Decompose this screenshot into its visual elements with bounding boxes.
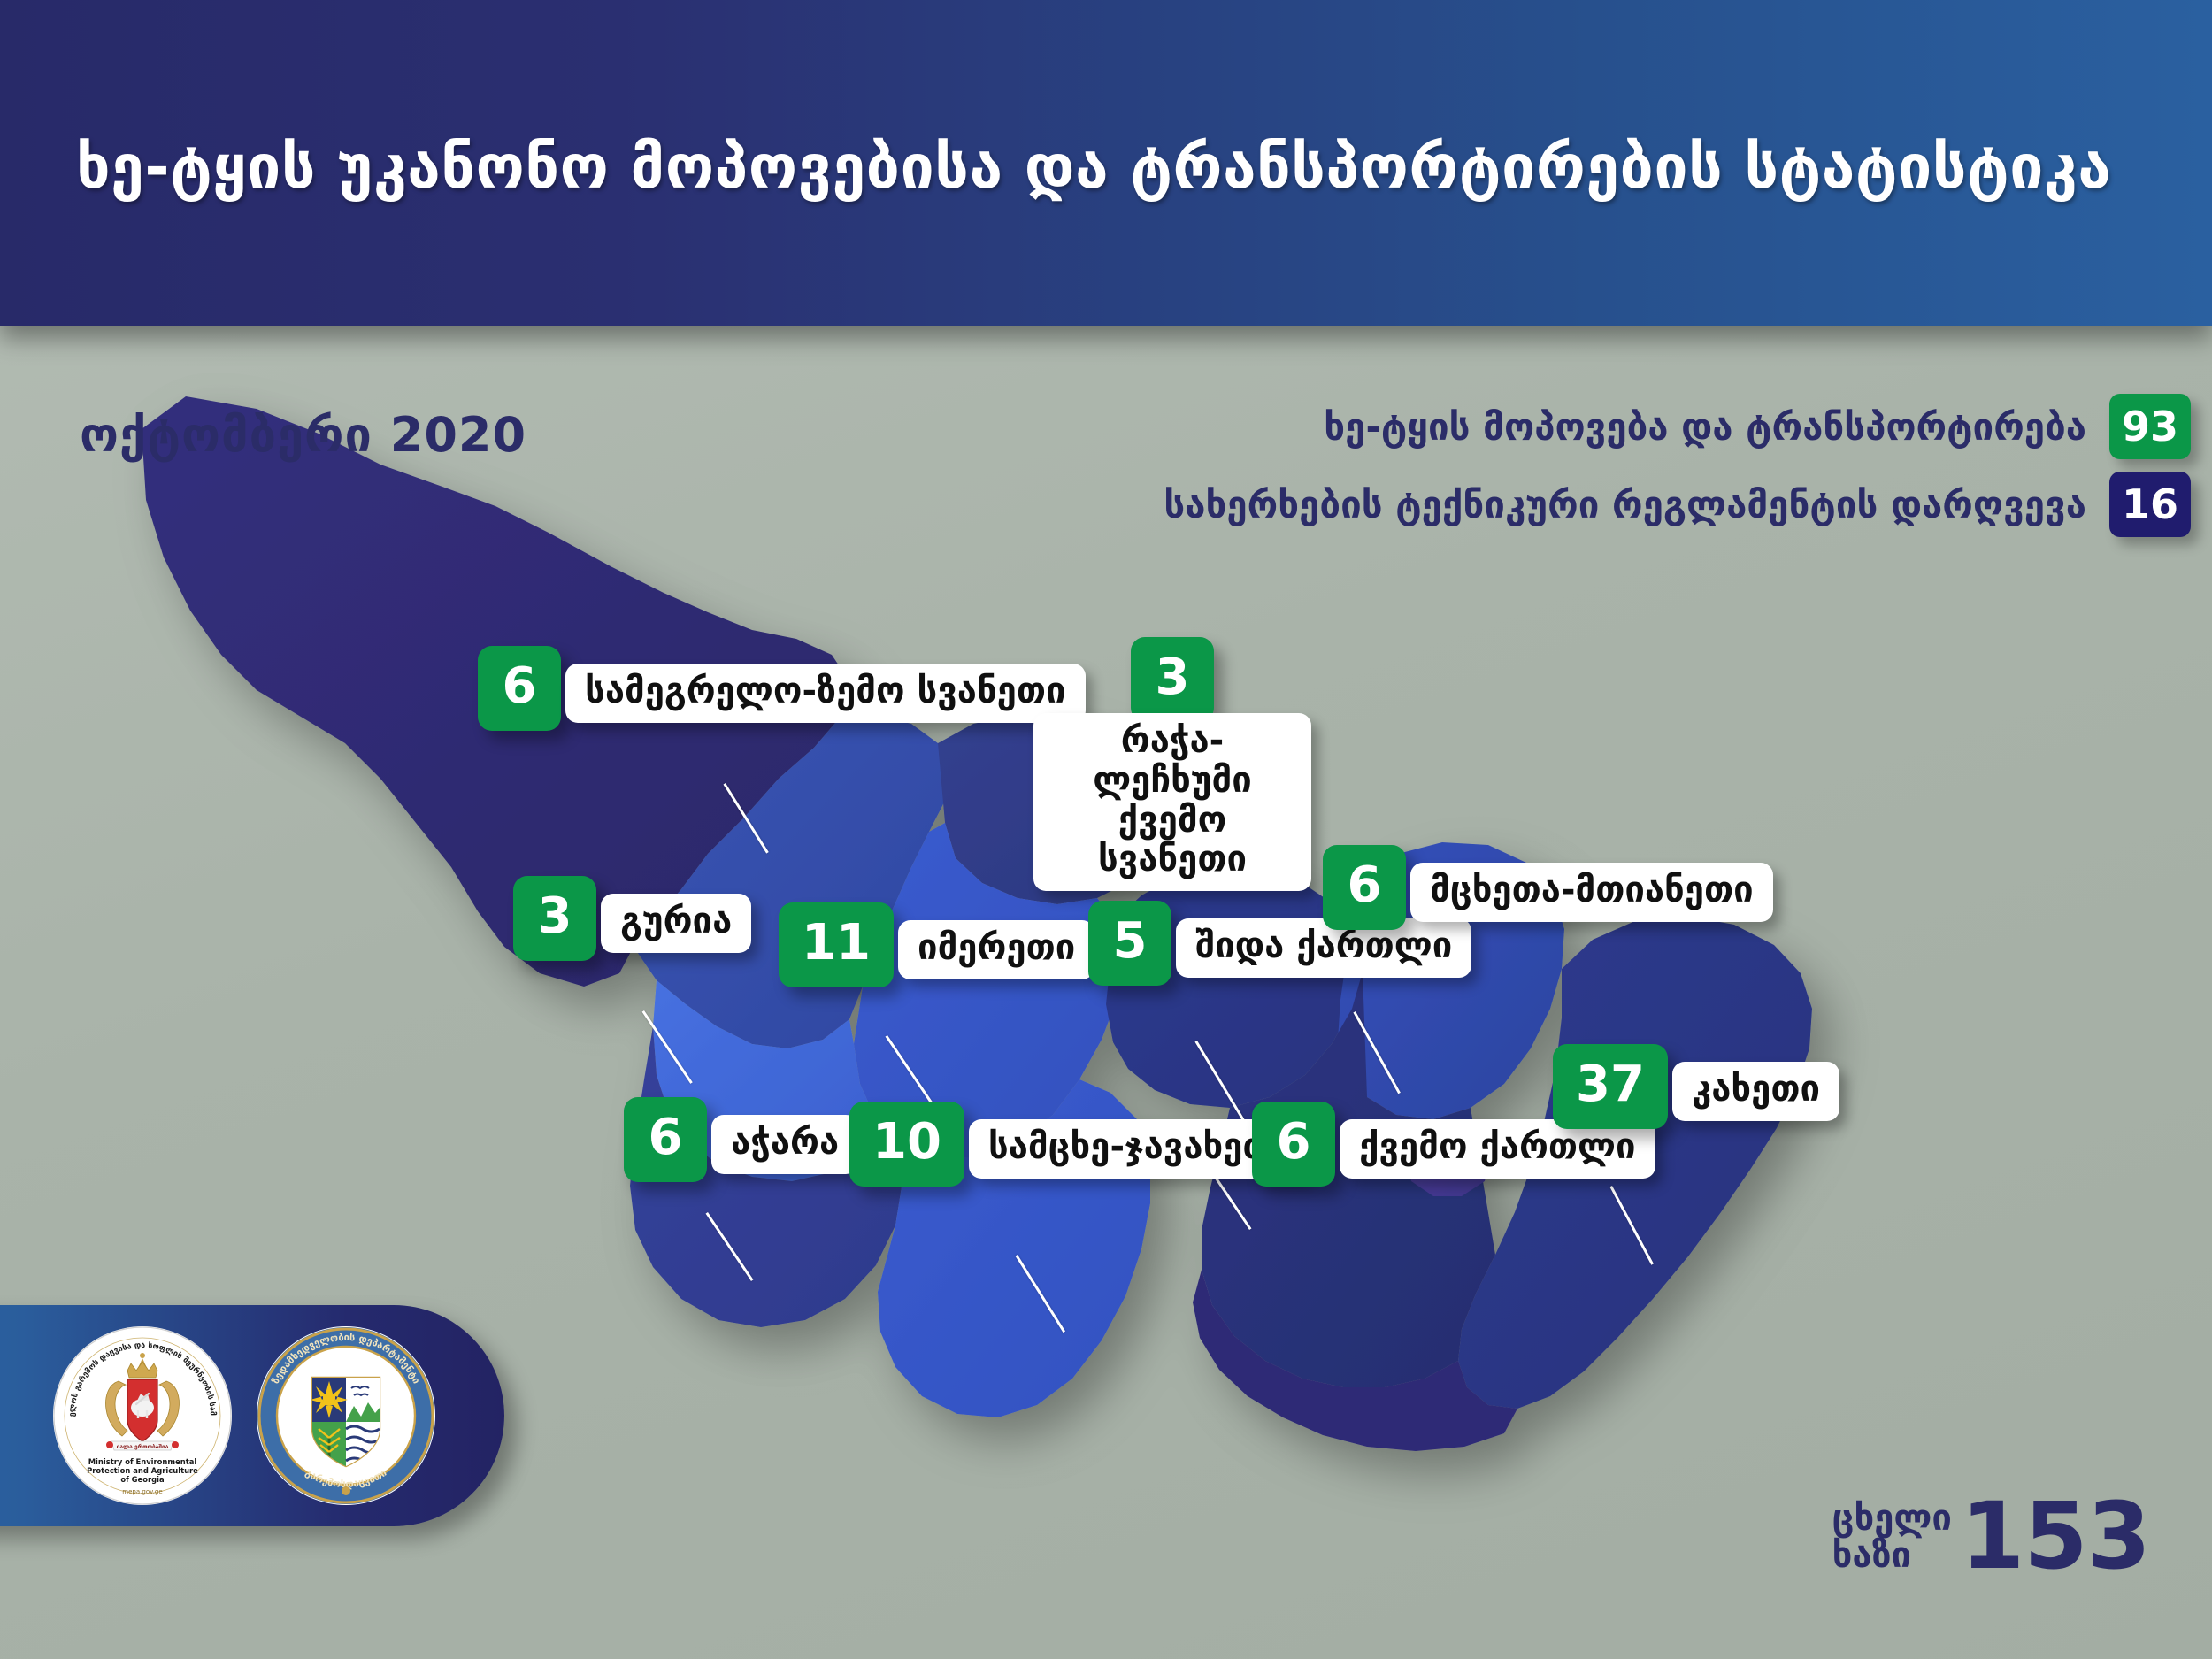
callout-value-guria: 3 <box>513 876 596 961</box>
callout-label-racha-line1: რაჭა-ლეჩხუმი <box>1093 720 1252 801</box>
callout-adjara[interactable]: 6 აჭარა <box>624 1097 858 1182</box>
date-label: ოქტომბერი 2020 <box>80 407 526 463</box>
callout-value-adjara: 6 <box>624 1097 707 1182</box>
legend-item-logging: ხე-ტყის მოპოვება და ტრანსპორტირება 93 <box>1018 394 2212 459</box>
callout-label-samegrelo: სამეგრელო-ზემო სვანეთი <box>565 664 1085 723</box>
legend: ხე-ტყის მოპოვება და ტრანსპორტირება 93 სა… <box>1018 394 2212 549</box>
callout-value-racha: 3 <box>1131 637 1214 722</box>
svg-text:ძალა ერთობაშია: ძალა ერთობაშია <box>117 1443 169 1450</box>
callout-value-kakheti: 37 <box>1553 1044 1668 1129</box>
infographic-canvas: ხე-ტყის უკანონო მოპოვებისა და ტრანსპორტი… <box>0 0 2212 1659</box>
callout-value-samegrelo: 6 <box>478 646 561 731</box>
callout-samtskhe[interactable]: 10 სამცხე-ჯავახეთი <box>849 1102 1311 1187</box>
header-bar: ხე-ტყის უკანონო მოპოვებისა და ტრანსპორტი… <box>0 0 2212 326</box>
hotline-label-line2: ხაზი <box>1832 1537 1952 1574</box>
ministry-name-en-line3: of Georgia <box>120 1475 164 1484</box>
callout-samegrelo[interactable]: 6 სამეგრელო-ზემო სვანეთი <box>478 646 1086 731</box>
callout-label-guria: გურია <box>601 894 751 953</box>
callout-label-imereti: იმერეთი <box>898 920 1094 979</box>
callout-label-mtskheta: მცხეთა-მთიანეთი <box>1410 863 1773 922</box>
legend-label-logging: ხე-ტყის მოპოვება და ტრანსპორტირება <box>1324 405 2086 449</box>
callout-label-racha-line2: ქვემო სვანეთი <box>1098 800 1247 880</box>
callout-label-adjara: აჭარა <box>711 1115 858 1174</box>
callout-value-samtskhe: 10 <box>849 1102 964 1187</box>
hotline-number: 153 <box>1961 1494 2150 1579</box>
legend-item-sawmill: სახერხების ტექნიკური რეგლამენტის დარღვევ… <box>1018 472 2212 537</box>
legend-label-sawmill: სახერხების ტექნიკური რეგლამენტის დარღვევ… <box>1164 483 2086 526</box>
logo-pill: ძალა ერთობაშია საქართველოს გარემოს დაცვი… <box>0 1305 504 1526</box>
legend-value-logging: 93 <box>2109 394 2191 459</box>
callout-label-kakheti: კახეთი <box>1672 1062 1839 1121</box>
ministry-seal-logo: ძალა ერთობაშია საქართველოს გარემოს დაცვი… <box>53 1326 232 1505</box>
page-title: ხე-ტყის უკანონო მოპოვებისა და ტრანსპორტი… <box>76 133 2111 203</box>
callout-kakheti[interactable]: 37 კახეთი <box>1553 1044 1839 1129</box>
callout-value-kvemo: 6 <box>1252 1102 1335 1187</box>
callout-value-mtskheta: 6 <box>1323 845 1406 930</box>
callout-racha[interactable]: 3 რაჭა-ლეჩხუმი ქვემო სვანეთი <box>1026 637 1318 891</box>
hotline-label: ცხელი ხაზი <box>1832 1500 1952 1575</box>
callout-guria[interactable]: 3 გურია <box>513 876 751 961</box>
ministry-website: mepa.gov.ge <box>122 1488 162 1495</box>
callout-imereti[interactable]: 11 იმერეთი <box>779 902 1094 987</box>
ministry-name-en-line1: Ministry of Environmental <box>88 1457 197 1466</box>
callout-label-racha: რაჭა-ლეჩხუმი ქვემო სვანეთი <box>1033 713 1311 891</box>
callout-mtskheta[interactable]: 6 მცხეთა-მთიანეთი <box>1323 845 1773 930</box>
callout-value-imereti: 11 <box>779 902 894 987</box>
hotline: ცხელი ხაზი 153 <box>1832 1494 2150 1579</box>
ministry-name-en-line2: Protection and Agriculture <box>87 1466 198 1475</box>
hotline-label-line1: ცხელი <box>1832 1500 1952 1537</box>
department-seal-logo: ზედამხედველობის დეპარტამენტი გარემოსდაცვ… <box>257 1326 435 1505</box>
callout-value-shida: 5 <box>1088 901 1171 986</box>
legend-value-sawmill: 16 <box>2109 472 2191 537</box>
